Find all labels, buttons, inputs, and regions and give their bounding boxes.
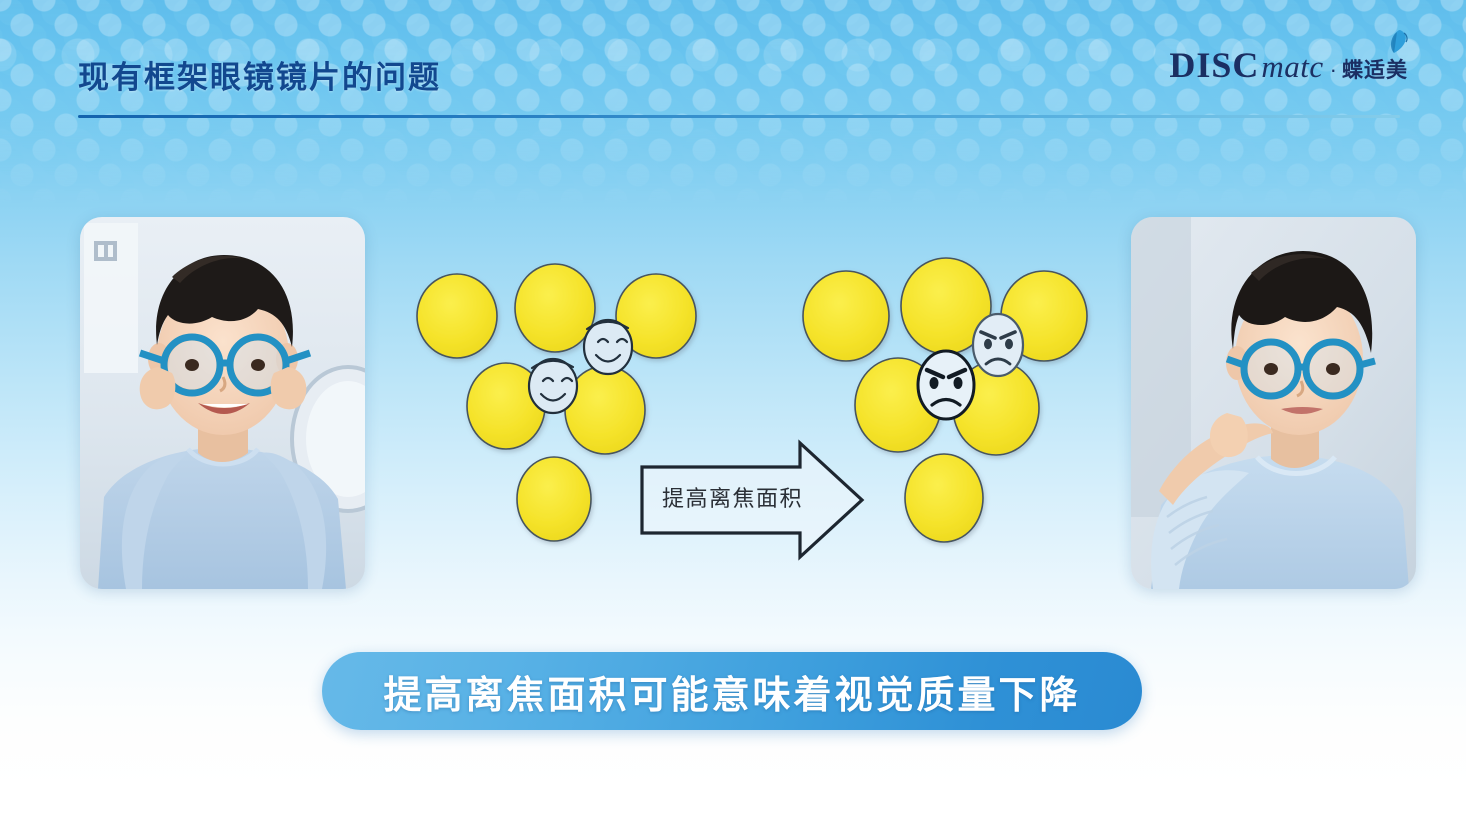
conclusion-banner: 提高离焦面积可能意味着视觉质量下降 (322, 652, 1142, 730)
photo-right-illustration (1131, 217, 1416, 589)
photo-left-illustration (80, 217, 365, 589)
butterfly-icon (1382, 28, 1412, 62)
photo-boy-unhappy (1131, 217, 1416, 589)
angry-face-icon (973, 314, 1023, 376)
conclusion-banner-text: 提高离焦面积可能意味着视觉质量下降 (383, 664, 1080, 719)
happy-face-icon (529, 359, 577, 413)
happy-face-icon (584, 320, 632, 374)
defocus-circle (515, 264, 595, 352)
slide-canvas: 现有框架眼镜镜片的问题 DISC matc · 蝶适美 (0, 0, 1466, 823)
right-circle-group (803, 258, 1087, 542)
logo-separator: · (1330, 57, 1337, 83)
defocus-circle (565, 366, 645, 454)
defocus-circle (467, 363, 545, 449)
defocus-circle (1001, 271, 1087, 361)
defocus-circle (901, 258, 991, 354)
brand-logo: DISC matc · 蝶适美 (1169, 44, 1408, 86)
defocus-circle (855, 358, 941, 452)
logo-matc-text: matc (1261, 49, 1323, 85)
page-title: 现有框架眼镜镜片的问题 (78, 52, 441, 97)
defocus-circle (905, 454, 983, 542)
defocus-circle (417, 274, 497, 358)
left-circle-group (417, 264, 696, 541)
arrow-label-text: 提高离焦面积 (662, 481, 803, 513)
defocus-circle (803, 271, 889, 361)
defocus-circle (953, 361, 1039, 455)
angry-face-icon (918, 351, 974, 419)
logo-disc-text: DISC (1169, 44, 1259, 86)
title-underline-divider (78, 115, 1400, 118)
honeycomb-pattern-background (0, 0, 1466, 215)
photo-boy-happy (80, 217, 365, 589)
defocus-circle (517, 457, 591, 541)
defocus-circle (616, 274, 696, 358)
